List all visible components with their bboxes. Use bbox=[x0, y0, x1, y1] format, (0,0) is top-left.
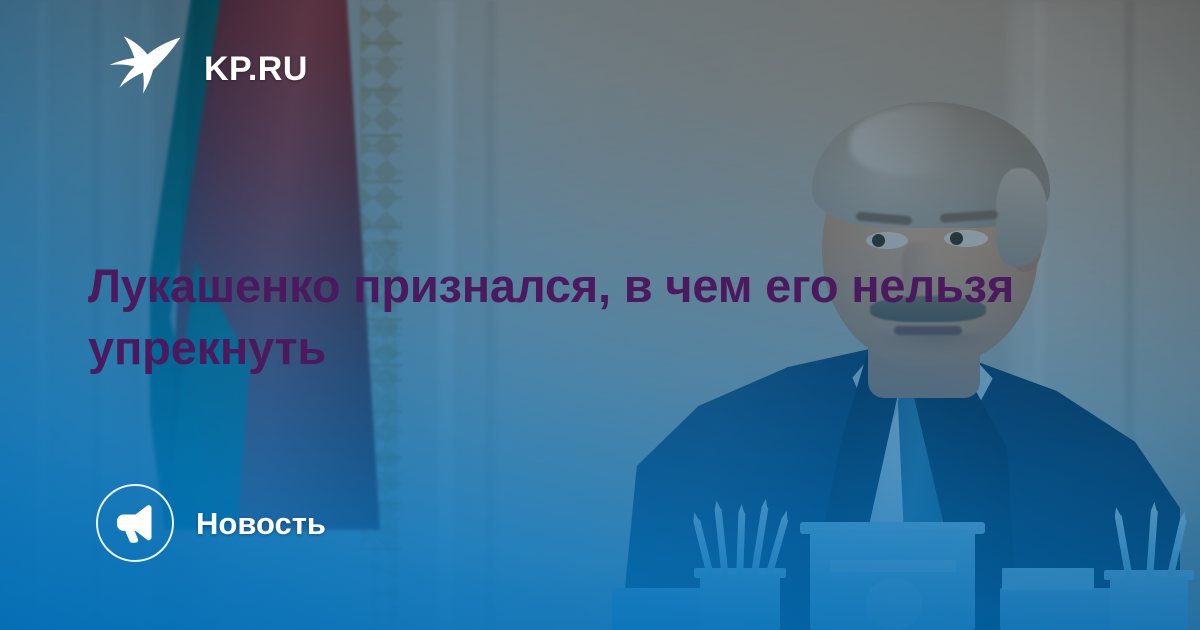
badge-label: Новость bbox=[196, 508, 326, 539]
brand-name: KP.RU bbox=[204, 52, 308, 86]
news-share-card: KP.RU Лукашенко признался, в чем его нел… bbox=[0, 0, 1200, 630]
megaphone-icon bbox=[114, 503, 156, 543]
page-title: Лукашенко признался, в чем его нельзя уп… bbox=[88, 255, 1048, 379]
brand-logo[interactable]: KP.RU bbox=[108, 35, 308, 103]
swallow-bird-icon bbox=[108, 35, 182, 103]
badge-icon-circle bbox=[96, 484, 174, 562]
card-overlay-ui: KP.RU Лукашенко признался, в чем его нел… bbox=[0, 0, 1200, 630]
status-badge[interactable]: Новость bbox=[96, 484, 326, 562]
